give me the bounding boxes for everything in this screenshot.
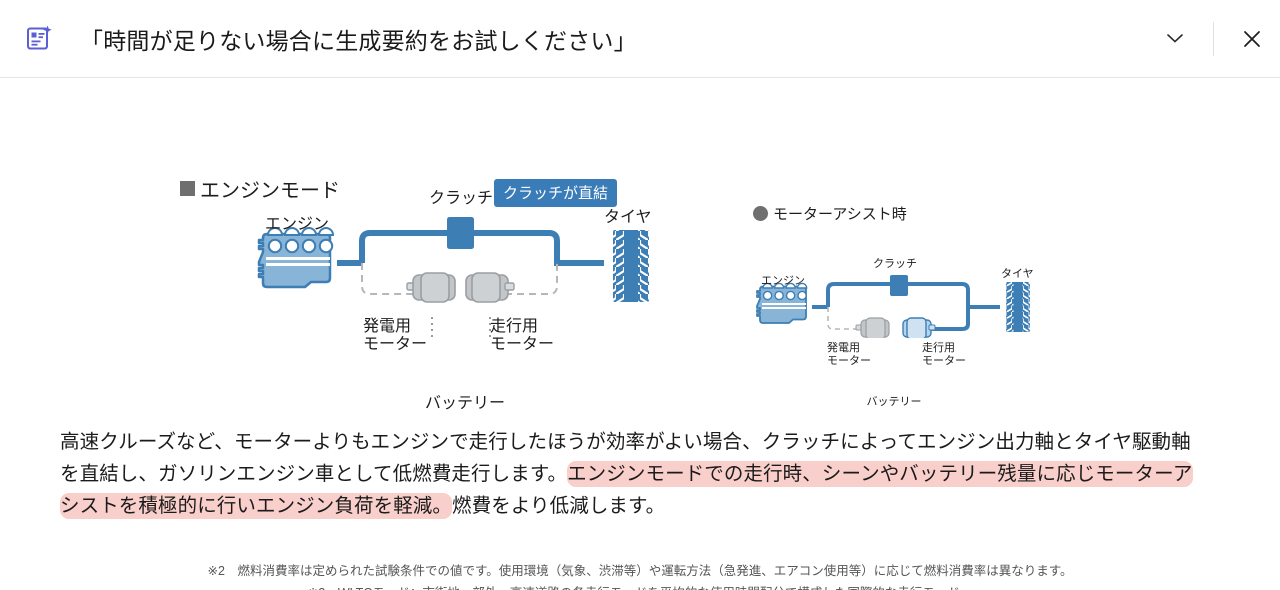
tire-icon-right xyxy=(1006,282,1030,332)
chevron-down-icon xyxy=(1167,34,1183,43)
label-clutch-right: クラッチ xyxy=(873,258,917,271)
label-generator-motor-left: 発電用 モーター xyxy=(363,318,443,355)
label-battery-left: バッテリー xyxy=(420,395,510,413)
label-tire-left: タイヤ xyxy=(604,209,652,227)
square-marker-icon xyxy=(180,181,195,196)
label-battery-right: バッテリー xyxy=(864,396,924,409)
engine-icon-left xyxy=(259,228,333,287)
circle-marker-icon xyxy=(753,206,768,221)
label-engine-left: エンジン xyxy=(265,216,329,234)
page-title: 「時間が足りない場合に生成要約をお試しください」 xyxy=(80,22,637,56)
collapse-button[interactable] xyxy=(1147,0,1203,78)
close-icon xyxy=(1243,30,1261,48)
body-paragraph: 高速クルーズなど、モーターよりもエンジンで走行したほうが効率がよい場合、クラッチ… xyxy=(60,426,1208,522)
label-generator-motor-right: 発電用 モーター xyxy=(827,342,887,368)
body-text-part2: 燃費をより低減します。 xyxy=(452,495,665,517)
hybrid-system-diagrams xyxy=(0,78,1280,338)
footnote-2: ※2 燃料消費率は定められた試験条件での値です。使用環境（気象、渋滞等）や運転方… xyxy=(0,560,1280,582)
section-title-motor-assist: モーターアシスト時 xyxy=(753,203,907,224)
label-drive-motor-right: 走行用 モーター xyxy=(922,342,984,368)
tire-icon-left xyxy=(613,230,649,302)
document-content: エンジンモード クラッチが直結 エンジン クラッチ タイヤ 発電用 モーター 走… xyxy=(0,78,1280,590)
footnotes: ※2 燃料消費率は定められた試験条件での値です。使用環境（気象、渋滞等）や運転方… xyxy=(0,560,1280,590)
drive-motor-icon-right xyxy=(903,318,935,338)
footnote-3: ※3 WLTCモード：市街地、郊外、高速道路の各走行モードを平均的な使用時間配分… xyxy=(0,582,1280,590)
generator-motor-icon-right xyxy=(856,318,889,338)
label-tire-right: タイヤ xyxy=(1001,268,1034,281)
generator-motor-icon-left xyxy=(407,273,455,302)
clutch-block-left xyxy=(447,217,474,249)
engine-icon-right xyxy=(757,283,807,323)
label-engine-right: エンジン xyxy=(761,275,805,288)
header-divider xyxy=(1213,22,1214,56)
ai-summary-icon xyxy=(20,19,60,59)
label-clutch-left: クラッチ xyxy=(429,190,493,208)
clutch-block-right xyxy=(890,275,908,296)
diagram-area: エンジンモード クラッチが直結 エンジン クラッチ タイヤ 発電用 モーター 走… xyxy=(0,78,1280,338)
header-actions xyxy=(1147,0,1280,77)
label-drive-motor-left: 走行用 モーター xyxy=(490,318,580,355)
section-title-engine-mode: エンジンモード xyxy=(180,174,340,203)
drive-motor-icon-left xyxy=(466,273,514,302)
clutch-direct-badge: クラッチが直結 xyxy=(494,179,617,207)
summary-header-bar: 「時間が足りない場合に生成要約をお試しください」 xyxy=(0,0,1280,78)
close-button[interactable] xyxy=(1224,0,1280,78)
